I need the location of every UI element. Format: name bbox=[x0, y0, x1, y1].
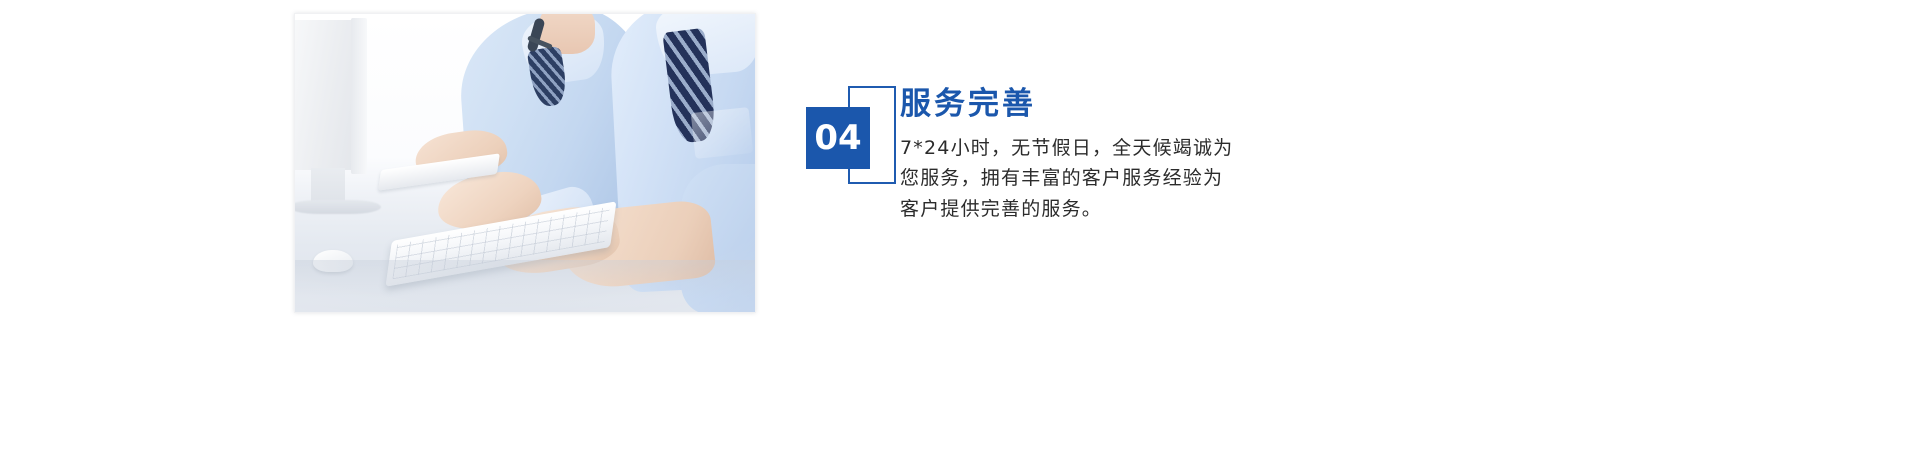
photo-vignette bbox=[295, 14, 755, 312]
feature-content: 04 服务完善 7*24小时，无节假日，全天候竭诚为 您服务，拥有丰富的客户服务… bbox=[806, 86, 1506, 266]
step-number-badge: 04 bbox=[806, 86, 902, 196]
description-line: 客户提供完善的服务。 bbox=[900, 194, 1300, 225]
page-root: Two customer service staff in light blue… bbox=[0, 0, 1920, 452]
badge-filled-square: 04 bbox=[806, 107, 870, 169]
feature-description: 7*24小时，无节假日，全天候竭诚为 您服务，拥有丰富的客户服务经验为 客户提供… bbox=[900, 133, 1300, 225]
feature-heading: 服务完善 bbox=[900, 86, 1500, 123]
description-line: 您服务，拥有丰富的客户服务经验为 bbox=[900, 163, 1300, 194]
feature-text: 服务完善 7*24小时，无节假日，全天候竭诚为 您服务，拥有丰富的客户服务经验为… bbox=[900, 86, 1500, 225]
photo-canvas: Two customer service staff in light blue… bbox=[295, 14, 755, 312]
badge-number: 04 bbox=[814, 121, 861, 155]
office-support-photo: Two customer service staff in light blue… bbox=[294, 13, 756, 313]
description-line: 7*24小时，无节假日，全天候竭诚为 bbox=[900, 133, 1300, 164]
